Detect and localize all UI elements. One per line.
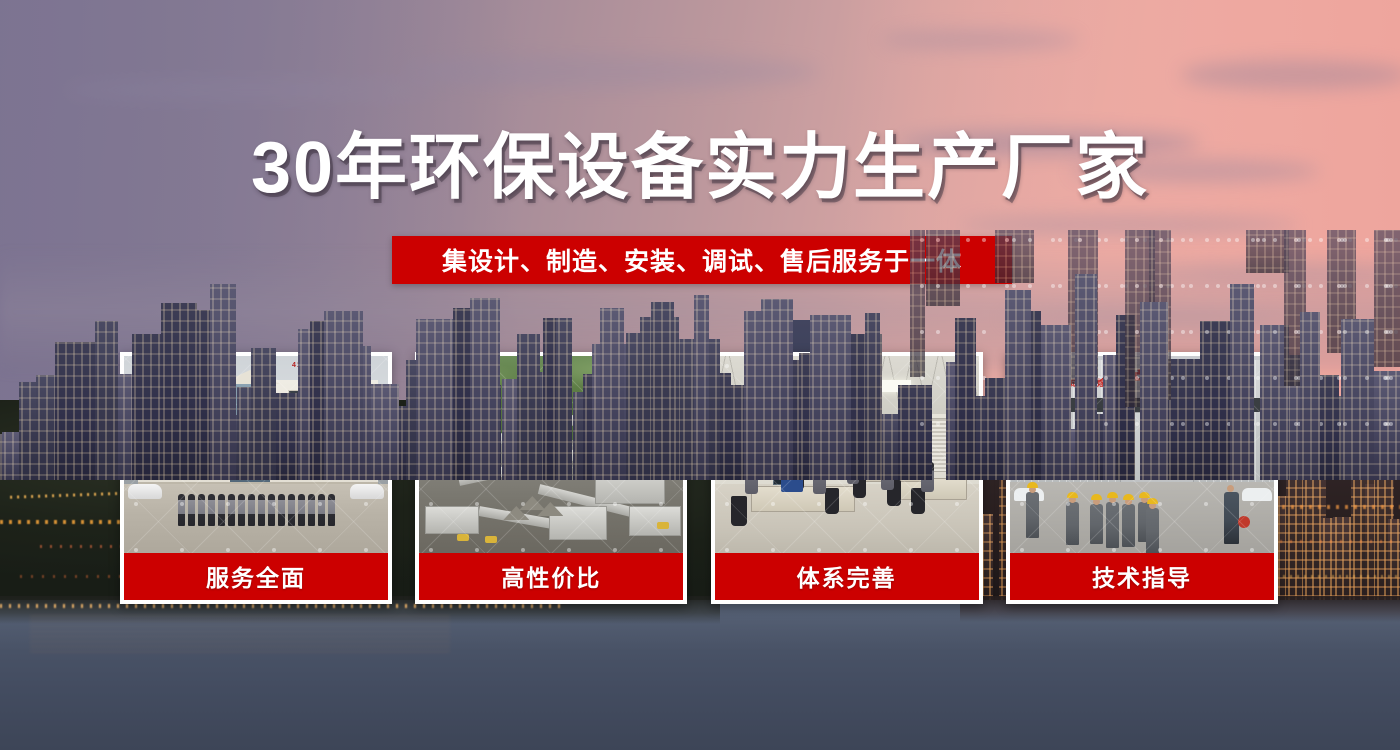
skyline-building xyxy=(416,319,453,480)
cloud xyxy=(400,55,820,89)
watermark-dot xyxy=(1337,238,1341,242)
staff-member xyxy=(288,494,295,526)
watermark-dot xyxy=(1189,284,1193,288)
watermark-dot xyxy=(1012,284,1016,288)
watermark-dot xyxy=(1386,284,1390,288)
watermark-dot xyxy=(982,284,986,288)
wheel-loader xyxy=(485,536,497,543)
watermark-dot xyxy=(1028,238,1032,242)
watermark-dot xyxy=(1384,284,1388,288)
supervisor-head xyxy=(1227,485,1234,492)
building-lights xyxy=(1388,519,1400,600)
factory-supervisor xyxy=(1224,492,1239,544)
staff-member xyxy=(188,494,195,526)
watermark-dot xyxy=(1294,284,1298,288)
watermark-dot xyxy=(1394,330,1398,334)
watermark-dot xyxy=(1166,238,1170,242)
watermark-dot xyxy=(1205,284,1209,288)
watermark-dot xyxy=(1340,238,1344,242)
staff-member xyxy=(228,494,235,526)
watermark-dot xyxy=(1150,284,1154,288)
watermark-dot xyxy=(1159,238,1163,242)
card-label-text: 高性价比 xyxy=(501,559,601,593)
wheel-loader xyxy=(657,522,669,529)
watermark-dot xyxy=(936,330,940,334)
skyline-building xyxy=(95,321,118,480)
skyline-building xyxy=(161,303,197,480)
skyline-tower xyxy=(1230,284,1254,480)
skyline-tower xyxy=(1140,302,1168,480)
watermark-dot xyxy=(1365,238,1369,242)
plant-building xyxy=(425,506,479,534)
watermark-dot xyxy=(1166,284,1170,288)
watermark-dot xyxy=(1216,284,1220,288)
watermark-dot xyxy=(1319,284,1323,288)
watermark-dot xyxy=(1340,284,1344,288)
watermark-dot xyxy=(1319,238,1323,242)
watermark-dot xyxy=(1189,330,1193,334)
watermark-dot xyxy=(1012,238,1016,242)
watermark-dot xyxy=(1205,238,1209,242)
skyline-building xyxy=(865,313,880,480)
watermark-dot xyxy=(1124,284,1128,288)
staff-member xyxy=(248,494,255,526)
hard-hat-icon xyxy=(1123,494,1134,500)
watermark-dot xyxy=(1256,238,1260,242)
hard-hat-icon xyxy=(1091,494,1102,500)
factory-worker xyxy=(1026,492,1039,538)
staff-member xyxy=(258,494,265,526)
watermark-dot xyxy=(1383,330,1387,334)
parked-car xyxy=(128,484,162,499)
watermark-dot xyxy=(1389,330,1393,334)
watermark-dot xyxy=(1120,238,1124,242)
factory-worker xyxy=(1122,504,1135,547)
cloud xyxy=(1180,60,1400,90)
watermark-dot xyxy=(1104,238,1108,242)
skyline-building xyxy=(694,295,709,480)
watermark-dot xyxy=(1051,284,1055,288)
watermark-dot xyxy=(1170,284,1174,288)
watermark-dot xyxy=(1058,238,1062,242)
card-label-banner: 服务全面 xyxy=(124,553,388,600)
watermark-dot xyxy=(1337,284,1341,288)
watermark-dot xyxy=(1386,330,1390,334)
watermark-dot xyxy=(1051,238,1055,242)
watermark-dot xyxy=(1170,238,1174,242)
plant-building xyxy=(629,506,681,536)
watermark-dot xyxy=(1159,284,1163,288)
watermark-dot xyxy=(1028,284,1032,288)
desk-printer xyxy=(781,478,803,492)
skyline-building xyxy=(1116,315,1135,480)
watermark-dot xyxy=(1273,284,1277,288)
watermark-dot xyxy=(1294,238,1298,242)
skyline-building xyxy=(55,342,97,480)
skyline-building xyxy=(1374,230,1400,367)
hard-hat-icon xyxy=(1139,492,1150,498)
watermark-dot xyxy=(1097,238,1101,242)
staff-member xyxy=(298,494,305,526)
watermark-dot xyxy=(1343,238,1347,242)
card-label-text: 体系完善 xyxy=(797,559,897,593)
skyline-tower xyxy=(1300,312,1320,480)
watermark-dot xyxy=(1227,238,1231,242)
watermark-dot xyxy=(1135,238,1139,242)
skyline-tower xyxy=(600,308,624,480)
office-chair xyxy=(825,488,839,514)
watermark-dot xyxy=(1262,284,1266,288)
watermark-dot xyxy=(982,330,986,334)
wheel-loader xyxy=(457,534,469,541)
watermark-dot xyxy=(1135,284,1139,288)
factory-worker xyxy=(1106,502,1119,548)
watermark-dot xyxy=(1181,330,1185,334)
watermark-dot xyxy=(1273,238,1277,242)
watermark-dot xyxy=(1189,238,1193,242)
watermark-dot xyxy=(1294,330,1298,334)
watermark-dot xyxy=(1235,238,1239,242)
watermark-dot xyxy=(1302,284,1306,288)
card-label-text: 技术指导 xyxy=(1092,559,1192,593)
watermark-dot xyxy=(1389,238,1393,242)
parked-car xyxy=(1242,488,1272,501)
watermark-dot xyxy=(1262,238,1266,242)
skyline-building xyxy=(517,334,540,480)
watermark-dot xyxy=(1074,238,1078,242)
office-desk xyxy=(751,486,855,512)
watermark-dot xyxy=(1143,238,1147,242)
skyline-tower xyxy=(470,298,500,480)
skyline-building xyxy=(251,348,276,480)
watermark-dot xyxy=(1150,238,1154,242)
staff-member xyxy=(308,494,315,526)
watermark-dot xyxy=(1297,284,1301,288)
watermark-dot xyxy=(1135,330,1139,334)
watermark-dot xyxy=(1104,284,1108,288)
skyline-building xyxy=(556,318,572,480)
skyline-tower xyxy=(210,284,236,480)
card-label-text: 服务全面 xyxy=(206,559,306,593)
watermark-dot xyxy=(1348,284,1352,288)
staff-member xyxy=(268,494,275,526)
watermark-dot xyxy=(1386,238,1390,242)
watermark-dot xyxy=(1308,238,1312,242)
staff-member xyxy=(238,494,245,526)
watermark-dot xyxy=(1058,284,1062,288)
watermark-dot xyxy=(1383,238,1387,242)
page-title: 30年环保设备实力生产厂家 xyxy=(0,132,1400,204)
watermark-dot xyxy=(1365,284,1369,288)
watermark-dot xyxy=(1308,284,1312,288)
watermark-dot xyxy=(936,284,940,288)
skyline-tower xyxy=(1075,274,1097,480)
hard-hat-icon xyxy=(1027,482,1038,488)
watermark-dot xyxy=(1216,238,1220,242)
staff-member xyxy=(208,494,215,526)
hard-hat-icon xyxy=(1067,492,1078,498)
cloud xyxy=(60,78,440,102)
staff-member xyxy=(328,494,335,526)
staff-member xyxy=(178,494,185,526)
staff-member xyxy=(318,494,325,526)
watermark-dot xyxy=(966,284,970,288)
watermark-dot xyxy=(1302,238,1306,242)
skyline-building xyxy=(810,315,851,480)
factory-worker xyxy=(1146,508,1159,553)
riverside-building xyxy=(1388,519,1400,600)
banner-stage: 30年环保设备实力生产厂家 集设计、制造、安装、调试、售后服务于一体 中嘉机械 … xyxy=(0,0,1400,750)
courtyard-ground xyxy=(124,484,388,553)
skyline-building xyxy=(651,302,674,480)
skyline-building xyxy=(955,318,976,480)
hard-hat-icon xyxy=(1107,492,1118,498)
card-label-banner: 技术指导 xyxy=(1010,553,1274,600)
watermark-dot xyxy=(1343,284,1347,288)
watermark-dot xyxy=(1170,330,1174,334)
subtitle-banner: 集设计、制造、安装、调试、售后服务于一体 xyxy=(392,236,1012,284)
skyline-building xyxy=(761,299,793,480)
card-label-banner: 高性价比 xyxy=(419,553,683,600)
watermark-dot xyxy=(1097,330,1101,334)
watermark-dot xyxy=(1104,330,1108,334)
watermark-dot xyxy=(1348,238,1352,242)
skyline-building xyxy=(1246,230,1289,273)
river-reflection xyxy=(30,612,450,652)
staff-member xyxy=(218,494,225,526)
subtitle-text: 集设计、制造、安装、调试、售后服务于一体 xyxy=(442,242,962,278)
factory-worker xyxy=(1066,502,1079,545)
parked-car xyxy=(350,484,384,499)
card-label-banner: 体系完善 xyxy=(715,553,979,600)
skyline-building xyxy=(1341,319,1374,480)
skyline-building xyxy=(371,384,399,480)
watermark-dot xyxy=(1181,284,1185,288)
watermark-dot xyxy=(1394,238,1398,242)
shoreline-lights xyxy=(0,604,560,608)
watermark-dot xyxy=(1256,284,1260,288)
watermark-dot xyxy=(1389,284,1393,288)
skyline-building xyxy=(898,385,932,480)
watermark-dot xyxy=(1124,238,1128,242)
skyline-building xyxy=(324,311,363,480)
watermark-dot xyxy=(1394,284,1398,288)
watermark-dot xyxy=(1097,284,1101,288)
watermark-dot xyxy=(1078,238,1082,242)
staff-member xyxy=(278,494,285,526)
watermark-dot xyxy=(1384,330,1388,334)
hard-hat-icon xyxy=(1147,498,1158,504)
watermark-dot xyxy=(1384,238,1388,242)
watermark-dot xyxy=(1383,284,1387,288)
skyline-building xyxy=(1260,325,1289,480)
watermark-dot xyxy=(1181,238,1185,242)
watermark-dot xyxy=(920,330,924,334)
cloud xyxy=(880,30,1080,50)
watermark-dot xyxy=(1297,238,1301,242)
office-chair xyxy=(731,496,747,526)
watermark-dot xyxy=(1251,238,1255,242)
watermark-dot xyxy=(1143,284,1147,288)
staff-member xyxy=(198,494,205,526)
factory-worker xyxy=(1090,504,1103,544)
red-hard-hat-held xyxy=(1238,516,1250,528)
watermark-dot xyxy=(920,284,924,288)
skyline-building xyxy=(626,333,640,480)
watermark-dot xyxy=(1005,284,1009,288)
watermark-dot xyxy=(1120,284,1124,288)
skyline-building xyxy=(132,334,161,480)
skyline-tower xyxy=(1005,290,1031,480)
